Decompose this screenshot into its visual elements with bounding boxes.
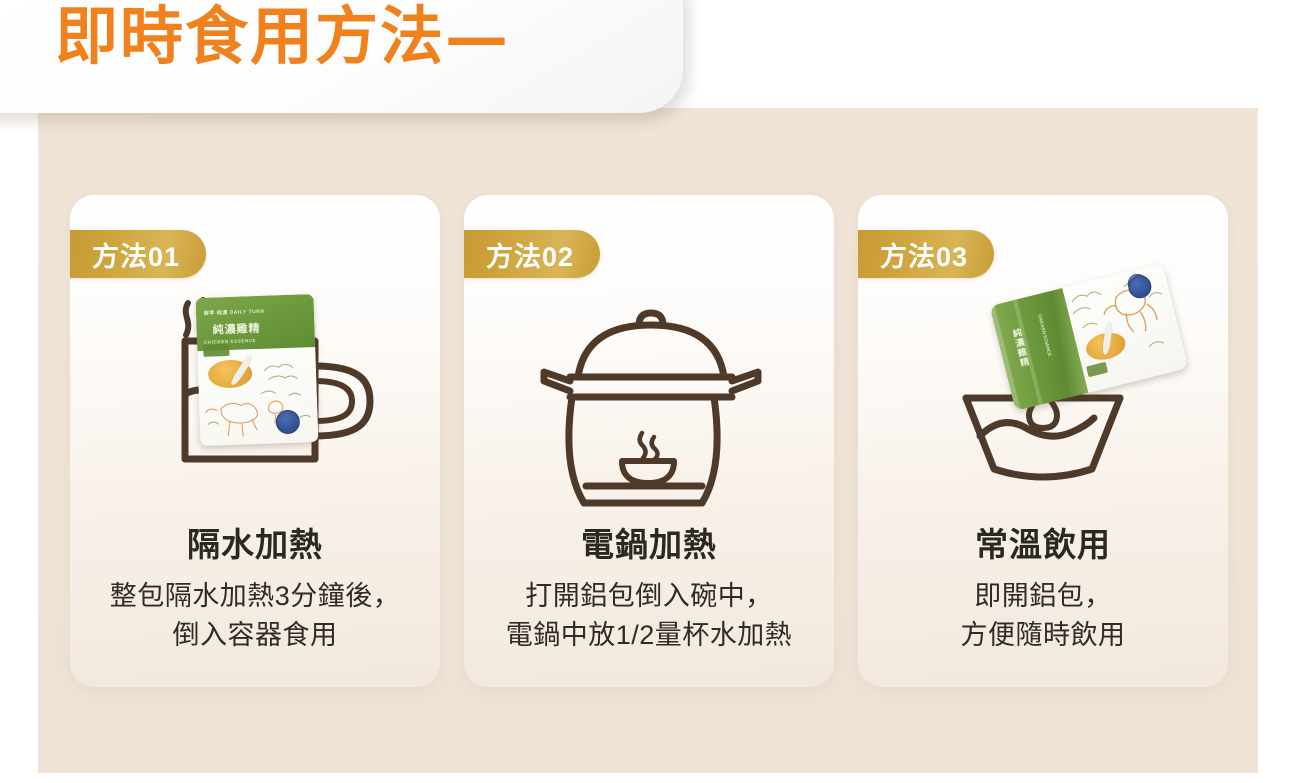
method-desc-3: 即開鋁包， 方便隨時飲用 [858,577,1228,655]
pouch-brand-band: 純濃雞精 [212,320,261,338]
page-root: 即時食用方法— 方法01 [0,0,1300,783]
method-badge-3: 方法03 [858,230,994,278]
mug-with-pouch-icon: 鮮萃 純濃 DAILY TURN 純濃雞精 CHICKEN ESSENCE [70,281,440,521]
pouch-logo [203,344,229,357]
method-desc-1: 整包隔水加熱3分鐘後， 倒入容器食用 [70,577,440,655]
bowl-with-droplet-icon: 純濃雞精 CHICKEN ESSENCE [858,281,1228,521]
method-title-3: 常溫飲用 [858,525,1228,565]
method-title-2: 電鍋加熱 [464,525,834,565]
method-badge-1: 方法01 [70,230,206,278]
method-title-1: 隔水加熱 [70,525,440,565]
method-badge-2: 方法02 [464,230,600,278]
product-pouch-front: 鮮萃 純濃 DAILY TURN 純濃雞精 CHICKEN ESSENCE [195,294,318,446]
header-bar: 即時食用方法— [0,0,683,113]
method-card-3[interactable]: 方法03 純 [858,195,1228,687]
pouch-english-vertical: CHICKEN ESSENCE [1037,314,1052,357]
pouch-brand-small: 鮮萃 純濃 DAILY TURN [204,308,265,317]
rice-cooker-svg [464,281,834,521]
method-desc-2: 打開鋁包倒入碗中， 電鍋中放1/2量杯水加熱 [464,577,834,655]
method-card-1[interactable]: 方法01 [70,195,440,687]
page-title: 即時食用方法— [55,0,510,79]
method-card-list: 方法01 [38,195,1258,690]
rice-cooker-icon [464,281,834,521]
pouch-artwork [197,347,318,446]
pouch-white-body [197,347,318,446]
method-card-2[interactable]: 方法02 [464,195,834,687]
